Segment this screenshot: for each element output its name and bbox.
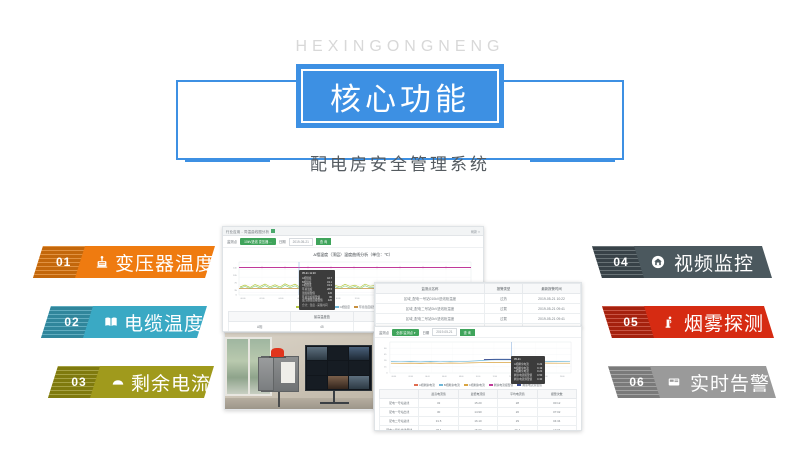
window-titlebar: 行业应用 - 同温曲线图分析 刷新 × [223,227,483,236]
column-header: 平均电流值 [498,390,537,399]
video-wall-stand [333,391,335,403]
header-pinyin: HEXINGONGNENG [0,38,800,56]
cell: 04:34 [537,417,576,426]
query-button[interactable]: 查 询 [460,329,475,336]
photo-video-wall [305,345,372,391]
cell: 配电二号站出线母线 [380,426,419,432]
alarm-table: 监测点名称 报警类型 最新报警时间 区域_配电一号站010kV进线柜温度过热20… [375,283,581,328]
tooltip-key: 变压器温度报警值 [302,299,323,303]
feature-label: 剩余电流 [131,369,211,396]
cell: 区域_配电一号站010kV进线柜温度 [376,294,485,304]
monitor-point-select[interactable]: 全部 监测点 ▾ [392,329,419,336]
poster-root: HEXINGONGNENG 核心功能 配电房安全管理系统 01 变压 [0,0,800,475]
statistics-table: 最高电流值 最低电流值 平均电流值 报警次数 配电一号站进线3215.20280… [379,389,577,431]
svg-text:04:00: 04:00 [279,298,284,300]
video-cell [328,361,348,374]
svg-text:105: 105 [233,275,237,277]
filter-toolbar: 监测点 10kV进线 变压器 ... 日期 2019-05-21 查 询 [223,236,483,248]
column-header [229,312,291,322]
cell: 过载 [484,304,522,314]
video-cell [349,361,369,374]
legend-label: 剩余电流预警值 [522,383,542,387]
feature-label: 电缆温度 [124,309,204,336]
tooltip-title: 05-21 [514,358,542,362]
feature-banner-01[interactable]: 01 变压器温度 [33,246,215,278]
header-frame-mask-right [502,82,622,158]
column-header [380,390,419,399]
tooltip-val: 120 [328,299,332,303]
svg-text:12:00: 12:00 [355,298,360,300]
svg-text:35: 35 [234,290,237,292]
legend-item[interactable]: C相剩余电流 [464,383,485,387]
svg-text:15: 15 [384,366,387,368]
feature-label: 变压器温度 [115,249,215,276]
legend-item[interactable]: B相剩余电流 [439,383,460,387]
window-mullion [248,339,250,394]
cell: 07:02 [537,408,576,417]
legend-item[interactable]: C相温度 [335,305,350,309]
tooltip-val: 0.30 [537,378,542,382]
chart-tooltip: 05-21 A相剩余电流0.22 B相剩余电流0.19 C相剩余电流0.21 剩… [511,356,545,384]
tooltip-key: 剩余电流预警值 [514,378,532,382]
table-row: 配电二号站进线31.516.102904:34 [380,417,577,426]
legend-label: C相剩余电流 [469,383,485,387]
svg-text:08:00: 08:00 [459,376,463,378]
column-header: 报警类型 [484,284,522,294]
chart-legend: A相剩余电流 B相剩余电流 C相剩余电流 剩余电流报警值 剩余电流预警值 [375,383,581,387]
window-controls[interactable]: 刷新 × [471,229,480,234]
filter-label: 监测点 [227,239,237,244]
tooltip-footer: 合计：温度 - 采集时间 [302,304,332,308]
svg-text:45: 45 [384,354,387,356]
cell: 13:04 [537,426,576,432]
legend-label: C相温度 [340,305,350,309]
legend-label: B相剩余电流 [444,383,460,387]
cabinet-conduit [278,392,280,407]
table-row: 配电一号站出线3014.902607:02 [380,408,577,417]
cell: 区域_配电二号站0kV进线柜温度 [376,304,485,314]
camera-icon [650,254,666,270]
svg-text:10:00: 10:00 [336,298,341,300]
cell: 配电一号站进线 [380,399,419,408]
cell: 过载 [484,314,522,324]
cell: 31.5 [419,417,458,426]
alarm-beacon-icon [271,348,284,356]
column-header: 最新报警时间 [523,284,581,294]
site-photo[interactable] [224,332,374,410]
legend-item[interactable]: A相剩余电流 [414,383,435,387]
cell: B相 [229,332,291,333]
transformer-icon [94,254,110,270]
page-title: 核心功能 [330,74,470,119]
date-input[interactable]: 2019-05-21 [289,238,313,246]
feature-banner-02[interactable]: 02 电缆温度 [41,306,207,338]
cell: 00:12 [537,399,576,408]
cell: 29 [498,417,537,426]
cell: 26.4 [498,426,537,432]
cabinet-door [258,357,275,390]
legend-label: 剩余电流报警值 [494,383,514,387]
chart-title: A相温度（顶层）温度曲线分析（单位：℃） [223,252,483,258]
column-header: 报警次数 [537,390,576,399]
cell: A相 [229,322,291,332]
legend-label: A相剩余电流 [419,383,435,387]
header-frame-mask-left [178,82,298,158]
status-dot [271,229,275,233]
feature-label: 实时告警 [690,369,770,396]
table-row: 配电二号站出线母线28.415.6026.413:04 [380,426,577,432]
video-cell [349,347,369,360]
cell: 16.10 [458,417,497,426]
screenshot-alarm-table[interactable]: 监测点名称 报警类型 最新报警时间 区域_配电一号站010kV进线柜温度过热20… [374,282,582,328]
filter-label: 监测点 [379,330,389,335]
cell: 26 [498,408,537,417]
table-row: 区域_配电二号站0kV进线柜温度过载2019-05-21 09:41 [376,304,581,314]
svg-text:0: 0 [236,295,238,297]
svg-text:12:00: 12:00 [493,376,497,378]
svg-text:0: 0 [386,372,388,374]
column-header: 最低电流值 [458,390,497,399]
video-cell [328,347,348,360]
legend-item[interactable]: 剩余电流预警值 [517,383,542,387]
table-header-row: 最高电流值 最低电流值 平均电流值 报警次数 [380,390,577,399]
feature-banner-06[interactable]: 06 实时告警 [608,366,776,398]
residual-current-line-chart: 6045 3015 0 00:0002:00 04:0006:00 08:001… [381,340,575,382]
stats-table-wrap: 最高电流值 最低电流值 平均电流值 报警次数 配电一号站进线3215.20280… [379,389,577,431]
cabinet-panel [281,362,295,383]
cell: 45 [291,322,353,332]
feature-number: 06 [622,375,652,389]
svg-text:70: 70 [234,283,237,285]
tooltip-title: 05-21 11:20 [302,272,332,276]
date-input[interactable]: 2019-05-21 [432,328,456,336]
cell: 2019-05-21 09:41 [523,314,581,324]
feature-number: 01 [49,255,78,269]
column-header: 最高电流值 [419,390,458,399]
cell: 14.90 [458,408,497,417]
svg-text:30: 30 [384,360,387,362]
smoke-detector-icon [660,314,676,330]
cell: 配电一号站出线 [380,408,419,417]
svg-text:00:00: 00:00 [392,376,396,378]
feature-banner-03[interactable]: 03 剩余电流 [48,366,214,398]
svg-text:140: 140 [233,267,237,269]
feature-label: 烟雾探测 [684,309,764,336]
svg-text:02:00: 02:00 [260,298,265,300]
video-cell [307,347,327,360]
chart-area: 6045 3015 0 00:0002:00 04:0006:00 08:001… [381,340,575,382]
svg-text:04:00: 04:00 [425,376,429,378]
svg-text:00:00: 00:00 [241,298,246,300]
video-wall-foot [320,402,350,404]
table-header-row: 监测点名称 报警类型 最新报警时间 [376,284,581,294]
feature-number: 03 [64,375,94,389]
legend-item[interactable]: 剩余电流报警值 [489,383,514,387]
header-subtitle: 配电房安全管理系统 [0,150,800,175]
feature-number: 02 [57,315,87,329]
table-row: 配电一号站进线3215.202800:12 [380,399,577,408]
cell: 28.4 [419,426,458,432]
photo-floor [225,398,373,409]
cell: 15.20 [458,399,497,408]
svg-text:10:00: 10:00 [476,376,480,378]
query-button[interactable]: 查 询 [316,238,331,245]
table-row: 区域_配电二号站0kV进线柜温度过载2019-05-21 09:41 [376,314,581,324]
svg-text:60: 60 [384,348,387,350]
cell: 28 [498,399,537,408]
header-title-box: 核心功能 [296,64,504,128]
date-label: 日期 [422,330,429,335]
feature-banner-04[interactable]: 04 视频监控 [592,246,772,278]
cell: 过热 [484,294,522,304]
svg-text:20:00: 20:00 [560,376,564,378]
svg-text:02:00: 02:00 [408,376,412,378]
book-icon [103,314,119,330]
feature-banner-05[interactable]: 05 烟雾探测 [602,306,774,338]
feature-number: 05 [616,315,646,329]
cell: 2019-05-21 09:41 [523,304,581,314]
column-header: 监测点名称 [376,284,485,294]
filter-toolbar: 监测点 全部 监测点 ▾ 日期 2019-05-21 查 询 [375,327,581,338]
video-cell [328,376,348,389]
video-cell [307,376,327,389]
column-header: 最高温度值 [291,312,353,322]
svg-text:06:00: 06:00 [442,376,446,378]
cell: 15.60 [458,426,497,432]
feature-number: 04 [606,255,636,269]
cell: 46.3 [291,332,353,333]
video-cell [307,361,327,374]
screenshot-chart-bottom[interactable]: 监测点 全部 监测点 ▾ 日期 2019-05-21 查 询 [374,326,582,431]
feature-label: 视频监控 [674,249,754,276]
cell: 30 [419,408,458,417]
cell: 32 [419,399,458,408]
cell: 区域_配电二号站0kV进线柜温度 [376,314,485,324]
video-cell [349,376,369,389]
window-title: 行业应用 - 同温曲线图分析 [226,229,269,234]
cloud-icon [110,374,126,390]
cell: 2019-05-21 10:22 [523,294,581,304]
photo-electrical-cabinet [261,356,299,392]
alarm-screen-icon [666,374,682,390]
monitor-point-select[interactable]: 10kV进线 变压器 ... [240,238,276,245]
table-row: 区域_配电一号站010kV进线柜温度过热2019-05-21 10:22 [376,294,581,304]
date-label: 日期 [279,239,286,244]
cell: 配电二号站进线 [380,417,419,426]
chart-tooltip: 05-21 11:20 A相温度42.7 B相温度43.1 C相温度43.3 环… [299,270,335,310]
